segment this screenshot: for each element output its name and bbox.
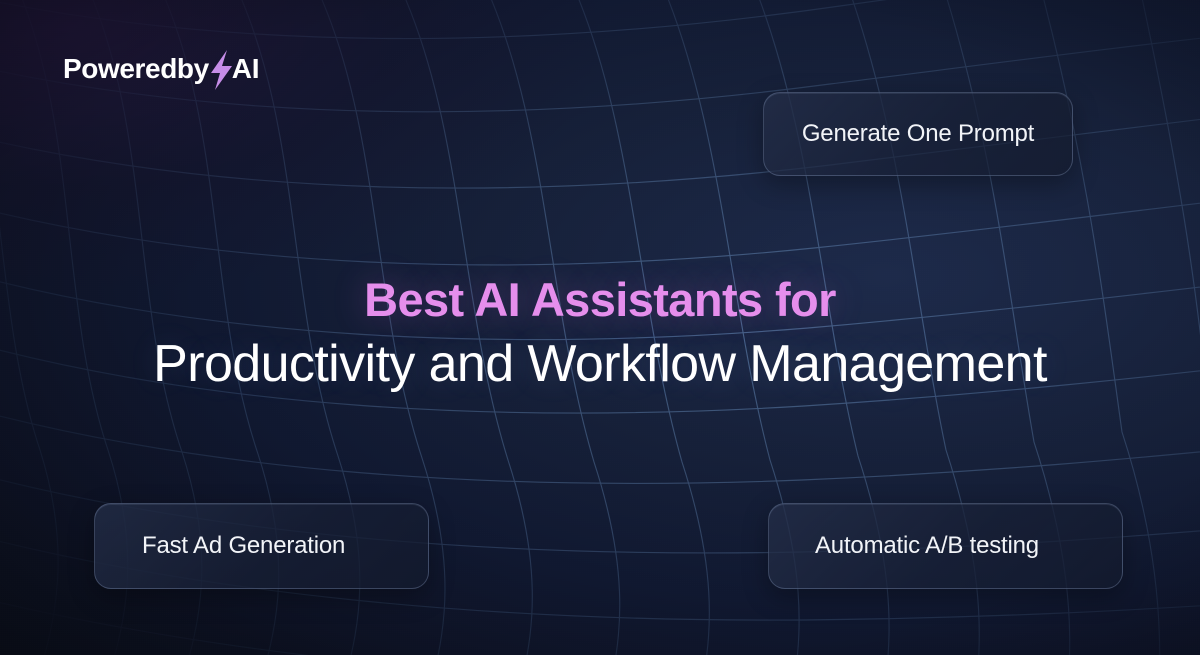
brand-logo[interactable]: Poweredby AI	[63, 49, 259, 89]
hero-banner: Poweredby AI Best AI Assistants for Prod…	[0, 0, 1200, 655]
lightning-bolt-icon	[207, 50, 235, 90]
feature-card-fast-ad-generation[interactable]: Fast Ad Generation	[94, 503, 429, 589]
logo-wordmark: Poweredby	[63, 55, 209, 83]
feature-card-label: Generate One Prompt	[802, 120, 1034, 148]
headline-line-1: Best AI Assistants for	[0, 272, 1200, 327]
feature-card-generate-one-prompt[interactable]: Generate One Prompt	[763, 92, 1073, 176]
headline-line-2: Productivity and Workflow Management	[0, 332, 1200, 398]
feature-card-label: Automatic A/B testing	[815, 532, 1039, 560]
page-title: Best AI Assistants for Productivity and …	[0, 272, 1200, 398]
feature-card-label: Fast Ad Generation	[142, 532, 345, 560]
feature-card-automatic-ab-testing[interactable]: Automatic A/B testing	[768, 503, 1123, 589]
logo-ai-text: AI	[232, 55, 260, 83]
